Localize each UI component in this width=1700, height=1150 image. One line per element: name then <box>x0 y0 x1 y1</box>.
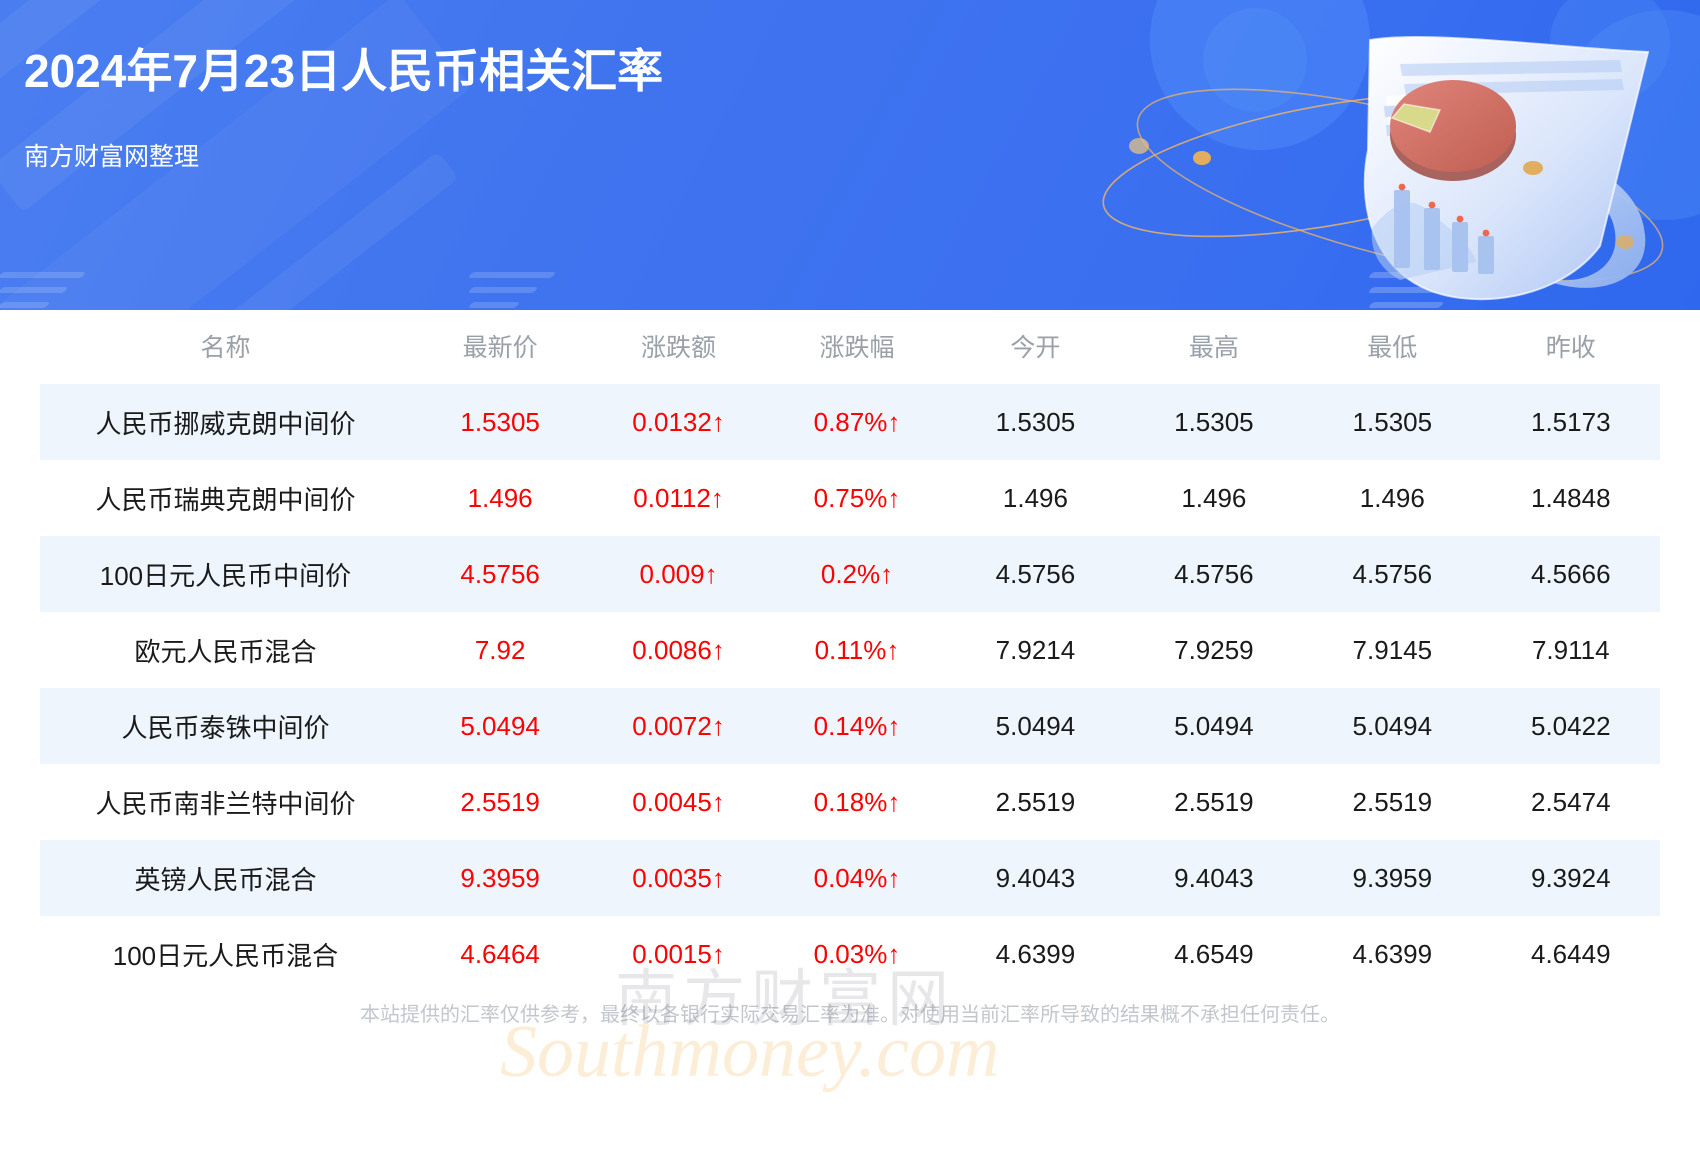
cell-change: 0.0072↑ <box>589 688 767 764</box>
rates-sheet: 南方财富网 Southmoney.com 名称 最新价 涨跌额 涨跌幅 今开 最… <box>0 310 1700 1150</box>
cell-open: 5.0494 <box>946 688 1124 764</box>
cell-high: 5.0494 <box>1125 688 1303 764</box>
cell-high: 7.9259 <box>1125 612 1303 688</box>
cell-change-pct: 0.87%↑ <box>768 384 946 460</box>
cell-high: 9.4043 <box>1125 840 1303 916</box>
decor-lines-left <box>0 272 120 310</box>
cell-change-pct: 0.18%↑ <box>768 764 946 840</box>
cell-name: 人民币泰铢中间价 <box>40 688 411 764</box>
cell-prev-close: 7.9114 <box>1482 612 1660 688</box>
column-header-high: 最高 <box>1125 310 1303 384</box>
cell-high: 2.5519 <box>1125 764 1303 840</box>
cell-prev-close: 1.5173 <box>1482 384 1660 460</box>
cell-open: 7.9214 <box>946 612 1124 688</box>
table-row: 人民币挪威克朗中间价 1.5305 0.0132↑ 0.87%↑ 1.5305 … <box>40 384 1660 460</box>
cell-latest: 4.6464 <box>411 916 589 992</box>
cell-name: 欧元人民币混合 <box>40 612 411 688</box>
page-subtitle: 南方财富网整理 <box>24 137 663 173</box>
cell-name: 人民币挪威克朗中间价 <box>40 384 411 460</box>
column-header-open: 今开 <box>946 310 1124 384</box>
cell-latest: 7.92 <box>411 612 589 688</box>
cell-high: 4.6549 <box>1125 916 1303 992</box>
column-header-low: 最低 <box>1303 310 1481 384</box>
table-row: 人民币瑞典克朗中间价 1.496 0.0112↑ 0.75%↑ 1.496 1.… <box>40 460 1660 536</box>
cell-open: 1.5305 <box>946 384 1124 460</box>
table-header: 名称 最新价 涨跌额 涨跌幅 今开 最高 最低 昨收 <box>40 310 1660 384</box>
cell-change: 0.0086↑ <box>589 612 767 688</box>
cell-prev-close: 5.0422 <box>1482 688 1660 764</box>
table-row: 100日元人民币中间价 4.5756 0.009↑ 0.2%↑ 4.5756 4… <box>40 536 1660 612</box>
cell-change: 0.009↑ <box>589 536 767 612</box>
cell-open: 9.4043 <box>946 840 1124 916</box>
cell-low: 1.5305 <box>1303 384 1481 460</box>
header-text-block: 2024年7月23日人民币相关汇率 南方财富网整理 <box>24 46 663 173</box>
table-row: 人民币泰铢中间价 5.0494 0.0072↑ 0.14%↑ 5.0494 5.… <box>40 688 1660 764</box>
cell-latest: 5.0494 <box>411 688 589 764</box>
column-header-change: 涨跌额 <box>589 310 767 384</box>
cell-low: 9.3959 <box>1303 840 1481 916</box>
cell-high: 1.496 <box>1125 460 1303 536</box>
decor-stripe-4 <box>201 151 458 310</box>
cell-open: 4.6399 <box>946 916 1124 992</box>
cell-open: 1.496 <box>946 460 1124 536</box>
cell-change-pct: 0.04%↑ <box>768 840 946 916</box>
cell-prev-close: 4.6449 <box>1482 916 1660 992</box>
cell-name: 英镑人民币混合 <box>40 840 411 916</box>
page-title: 2024年7月23日人民币相关汇率 <box>24 46 663 97</box>
table-body: 人民币挪威克朗中间价 1.5305 0.0132↑ 0.87%↑ 1.5305 … <box>40 384 1660 992</box>
cell-latest: 1.5305 <box>411 384 589 460</box>
report-illustration <box>1000 0 1700 310</box>
cell-change-pct: 0.14%↑ <box>768 688 946 764</box>
cell-low: 4.6399 <box>1303 916 1481 992</box>
cell-open: 4.5756 <box>946 536 1124 612</box>
cell-low: 4.5756 <box>1303 536 1481 612</box>
table-row: 欧元人民币混合 7.92 0.0086↑ 0.11%↑ 7.9214 7.925… <box>40 612 1660 688</box>
column-header-change-pct: 涨跌幅 <box>768 310 946 384</box>
cell-high: 1.5305 <box>1125 384 1303 460</box>
disclaimer-note: 本站提供的汇率仅供参考，最终以各银行实际交易汇率为准。对使用当前汇率所导致的结果… <box>0 992 1700 1027</box>
cell-low: 7.9145 <box>1303 612 1481 688</box>
cell-prev-close: 4.5666 <box>1482 536 1660 612</box>
cell-change-pct: 0.2%↑ <box>768 536 946 612</box>
table-header-row: 名称 最新价 涨跌额 涨跌幅 今开 最高 最低 昨收 <box>40 310 1660 384</box>
cell-name: 人民币南非兰特中间价 <box>40 764 411 840</box>
page-header: 2024年7月23日人民币相关汇率 南方财富网整理 <box>0 0 1700 310</box>
cell-latest: 2.5519 <box>411 764 589 840</box>
cell-low: 1.496 <box>1303 460 1481 536</box>
cell-change: 0.0035↑ <box>589 840 767 916</box>
cell-change: 0.0112↑ <box>589 460 767 536</box>
cell-open: 2.5519 <box>946 764 1124 840</box>
cell-high: 4.5756 <box>1125 536 1303 612</box>
table-row: 100日元人民币混合 4.6464 0.0015↑ 0.03%↑ 4.6399 … <box>40 916 1660 992</box>
cell-change: 0.0132↑ <box>589 384 767 460</box>
cell-prev-close: 9.3924 <box>1482 840 1660 916</box>
cell-name: 100日元人民币混合 <box>40 916 411 992</box>
column-header-name: 名称 <box>40 310 411 384</box>
cell-low: 2.5519 <box>1303 764 1481 840</box>
column-header-prev-close: 昨收 <box>1482 310 1660 384</box>
cell-change: 0.0045↑ <box>589 764 767 840</box>
column-header-latest: 最新价 <box>411 310 589 384</box>
cell-name: 人民币瑞典克朗中间价 <box>40 460 411 536</box>
cell-change: 0.0015↑ <box>589 916 767 992</box>
cell-prev-close: 2.5474 <box>1482 764 1660 840</box>
decor-lines-mid <box>470 272 590 310</box>
cell-name: 100日元人民币中间价 <box>40 536 411 612</box>
cell-change-pct: 0.75%↑ <box>768 460 946 536</box>
cell-latest: 1.496 <box>411 460 589 536</box>
cell-prev-close: 1.4848 <box>1482 460 1660 536</box>
cell-latest: 4.5756 <box>411 536 589 612</box>
cell-latest: 9.3959 <box>411 840 589 916</box>
table-row: 人民币南非兰特中间价 2.5519 0.0045↑ 0.18%↑ 2.5519 … <box>40 764 1660 840</box>
cell-low: 5.0494 <box>1303 688 1481 764</box>
table-row: 英镑人民币混合 9.3959 0.0035↑ 0.04%↑ 9.4043 9.4… <box>40 840 1660 916</box>
cell-change-pct: 0.11%↑ <box>768 612 946 688</box>
cell-change-pct: 0.03%↑ <box>768 916 946 992</box>
exchange-rates-table: 名称 最新价 涨跌额 涨跌幅 今开 最高 最低 昨收 人民币挪威克朗中间价 1.… <box>40 310 1660 992</box>
